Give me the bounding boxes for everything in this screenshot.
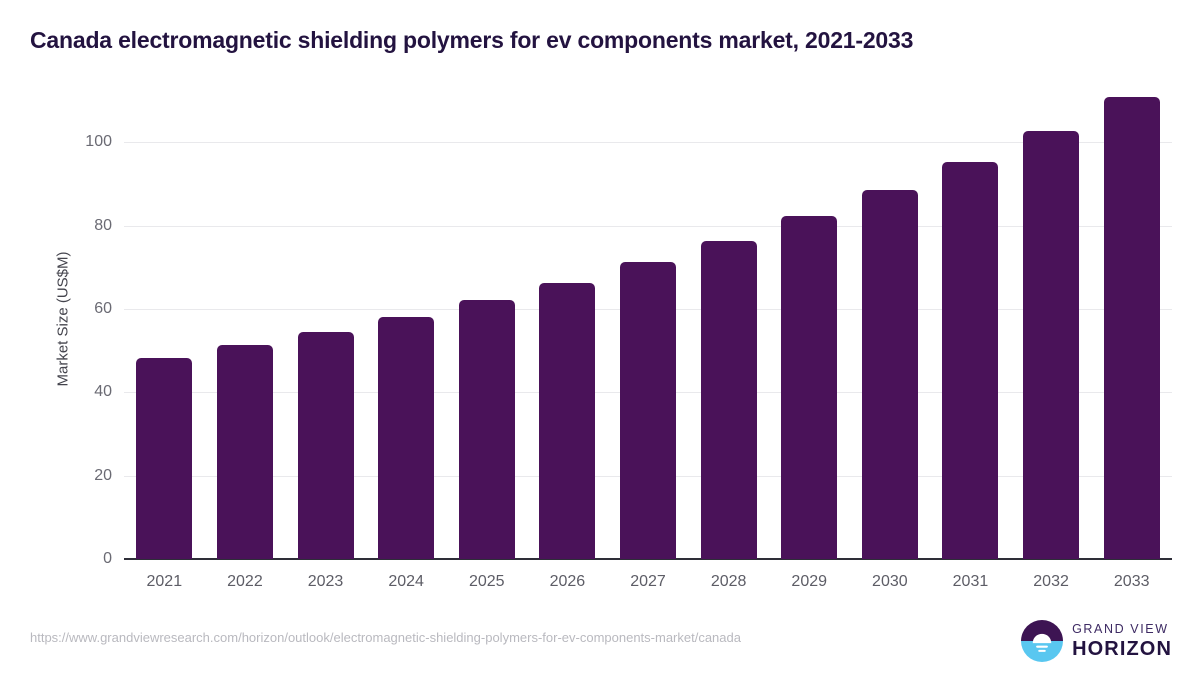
horizon-logo-icon <box>1021 620 1063 662</box>
bar-slot <box>285 80 366 559</box>
bar[interactable] <box>378 317 434 559</box>
bar[interactable] <box>620 262 676 559</box>
bar-slot <box>124 80 205 559</box>
bar-series <box>124 80 1172 559</box>
y-tick-label: 20 <box>0 467 112 485</box>
bar-slot <box>930 80 1011 559</box>
source-url[interactable]: https://www.grandviewresearch.com/horizo… <box>30 630 741 645</box>
y-axis-title: Market Size (US$M) <box>55 169 72 469</box>
x-tick-label: 2023 <box>308 573 344 591</box>
x-tick-label: 2027 <box>630 573 666 591</box>
chart-page: Canada electromagnetic shielding polymer… <box>0 0 1200 675</box>
x-tick-label: 2026 <box>550 573 586 591</box>
y-tick-label: 0 <box>0 550 112 568</box>
bar[interactable] <box>862 190 918 559</box>
bar[interactable] <box>1104 97 1160 559</box>
bar[interactable] <box>942 162 998 559</box>
logo-text-grand-view: GRAND VIEW <box>1072 623 1172 636</box>
bar[interactable] <box>136 358 192 559</box>
bar[interactable] <box>781 216 837 559</box>
bar[interactable] <box>701 241 757 559</box>
x-tick-label: 2032 <box>1033 573 1069 591</box>
x-tick-label: 2030 <box>872 573 908 591</box>
logo-text-horizon: HORIZON <box>1072 639 1172 659</box>
x-tick-label: 2021 <box>147 573 183 591</box>
page-title: Canada electromagnetic shielding polymer… <box>30 27 913 54</box>
bar-slot <box>850 80 931 559</box>
x-tick-label: 2033 <box>1114 573 1150 591</box>
x-tick-label: 2022 <box>227 573 263 591</box>
bar[interactable] <box>1023 131 1079 559</box>
x-tick-label: 2031 <box>953 573 989 591</box>
bar[interactable] <box>298 332 354 559</box>
bar-slot <box>446 80 527 559</box>
x-tick-label: 2025 <box>469 573 505 591</box>
y-tick-label: 100 <box>0 133 112 151</box>
bar-slot <box>688 80 769 559</box>
plot-area: 020406080100 202120222023202420252026202… <box>124 80 1172 559</box>
x-tick-label: 2024 <box>388 573 424 591</box>
x-tick-label: 2029 <box>791 573 827 591</box>
grand-view-horizon-logo: GRAND VIEW HORIZON <box>1021 620 1172 662</box>
bar-slot <box>1091 80 1172 559</box>
bar-slot <box>769 80 850 559</box>
bar-slot <box>205 80 286 559</box>
x-tick-label: 2028 <box>711 573 747 591</box>
bar-slot <box>1011 80 1092 559</box>
bar[interactable] <box>539 283 595 559</box>
logo-wordmark: GRAND VIEW HORIZON <box>1072 623 1172 659</box>
bar-slot <box>608 80 689 559</box>
bar-slot <box>527 80 608 559</box>
bar[interactable] <box>459 300 515 559</box>
bar-slot <box>366 80 447 559</box>
bar[interactable] <box>217 345 273 559</box>
